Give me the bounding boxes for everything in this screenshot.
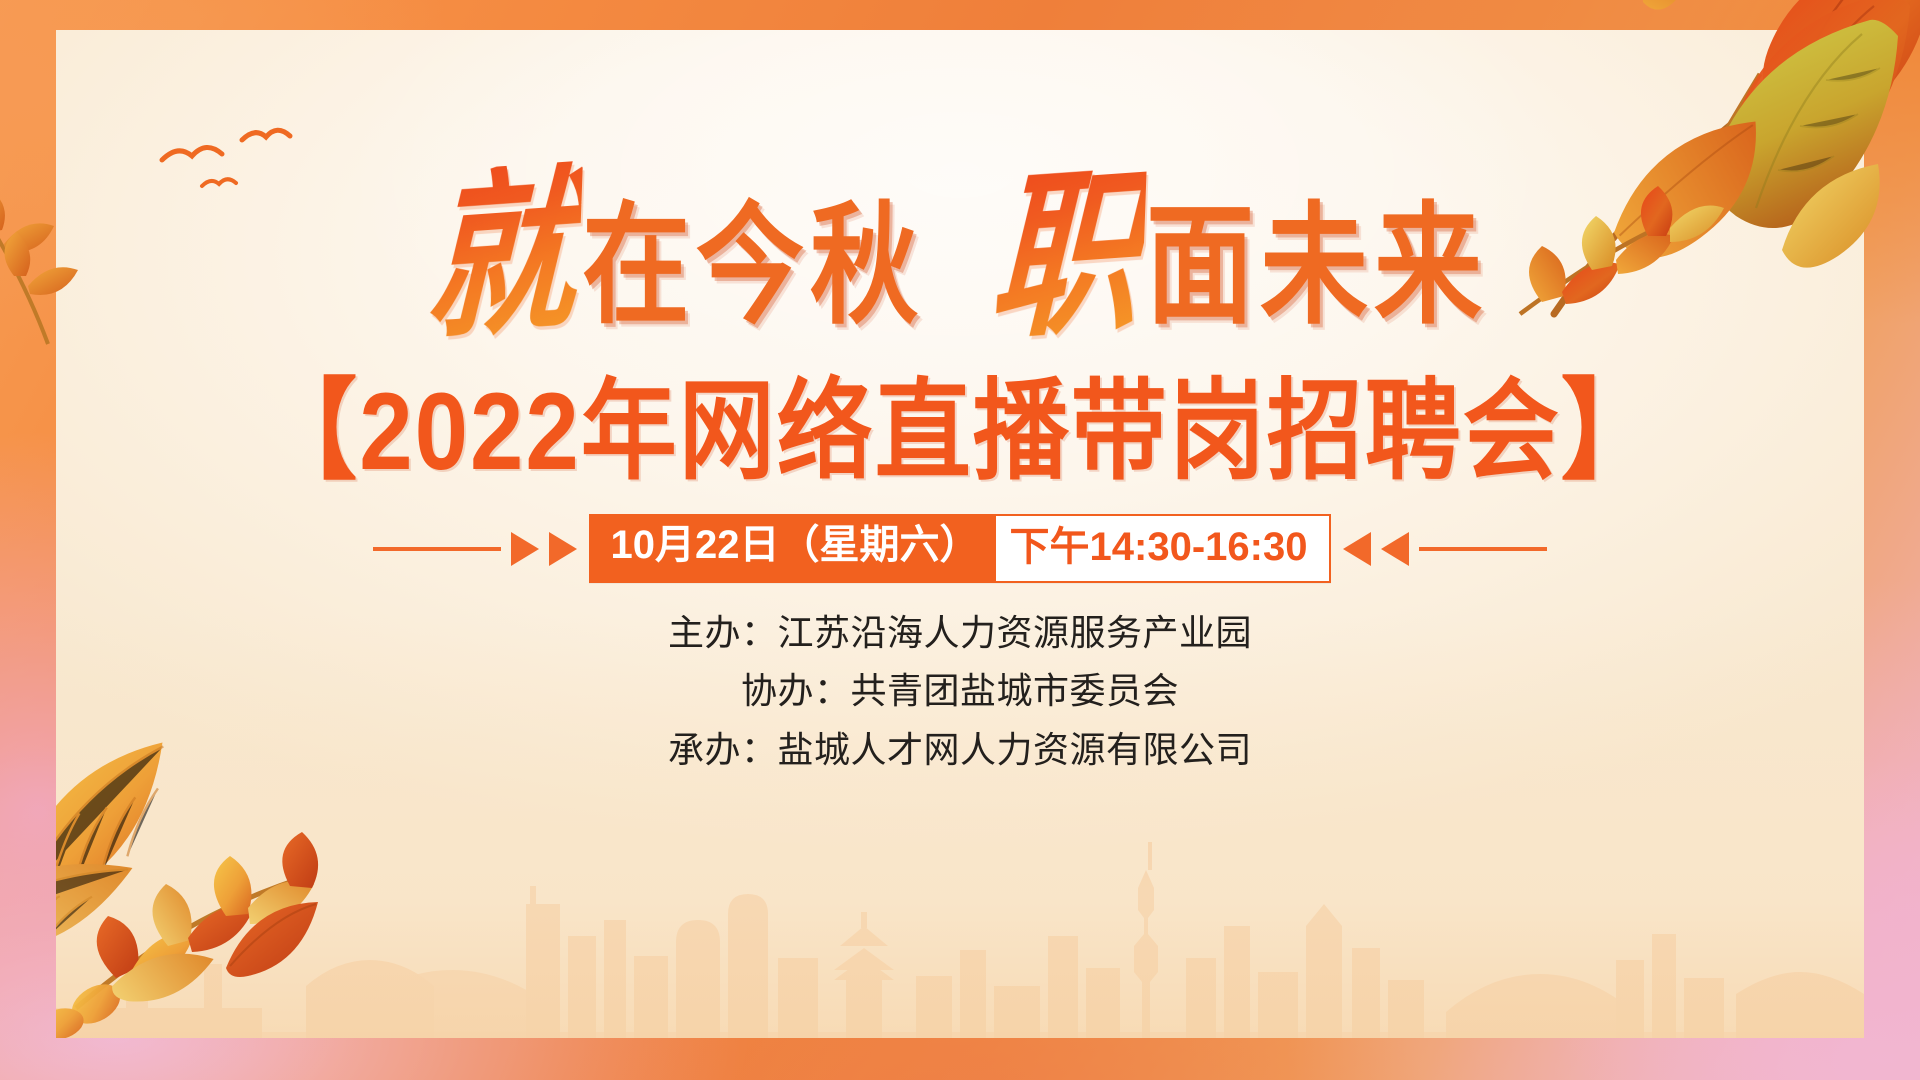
arrow-triangle-left-1: [511, 532, 539, 566]
event-time: 下午14:30-16:30: [996, 514, 1332, 583]
brush-char-1: 就: [419, 161, 583, 350]
date-box: 10月22日（星期六） 下午14:30-16:30: [589, 514, 1332, 583]
poster-card: 就 在今秋 职 面未来 【2022年网络直播带岗招聘会】 10月22日（星期六）…: [56, 30, 1864, 1038]
arrow-triangle-right-1: [1343, 532, 1371, 566]
date-time-banner: 10月22日（星期六） 下午14:30-16:30: [56, 514, 1864, 583]
brush-char-2: 职: [983, 161, 1147, 350]
gothic-word-1: 在今秋: [582, 200, 924, 332]
page-title: 【2022年网络直播带岗招聘会】: [56, 342, 1864, 500]
city-skyline-icon: [56, 808, 1864, 1038]
gothic-word-2: 面未来: [1146, 200, 1488, 332]
arrow-line-left: [373, 547, 501, 551]
decorative-title: 就 在今秋 职 面未来: [56, 150, 1864, 330]
poster-root: 就 在今秋 职 面未来 【2022年网络直播带岗招聘会】 10月22日（星期六）…: [0, 0, 1920, 1080]
organizer-host: 主办：江苏沿海人力资源服务产业园: [56, 604, 1864, 662]
arrow-decor-left: [373, 532, 577, 566]
arrow-triangle-left-2: [549, 532, 577, 566]
organizer-list: 主办：江苏沿海人力资源服务产业园 协办：共青团盐城市委员会 承办：盐城人才网人力…: [56, 604, 1864, 779]
arrow-triangle-right-2: [1381, 532, 1409, 566]
arrow-line-right: [1419, 547, 1547, 551]
organizer-undertaker: 承办：盐城人才网人力资源有限公司: [56, 721, 1864, 779]
arrow-decor-right: [1343, 532, 1547, 566]
organizer-co-host: 协办：共青团盐城市委员会: [56, 662, 1864, 720]
event-date: 10月22日（星期六）: [589, 514, 996, 583]
